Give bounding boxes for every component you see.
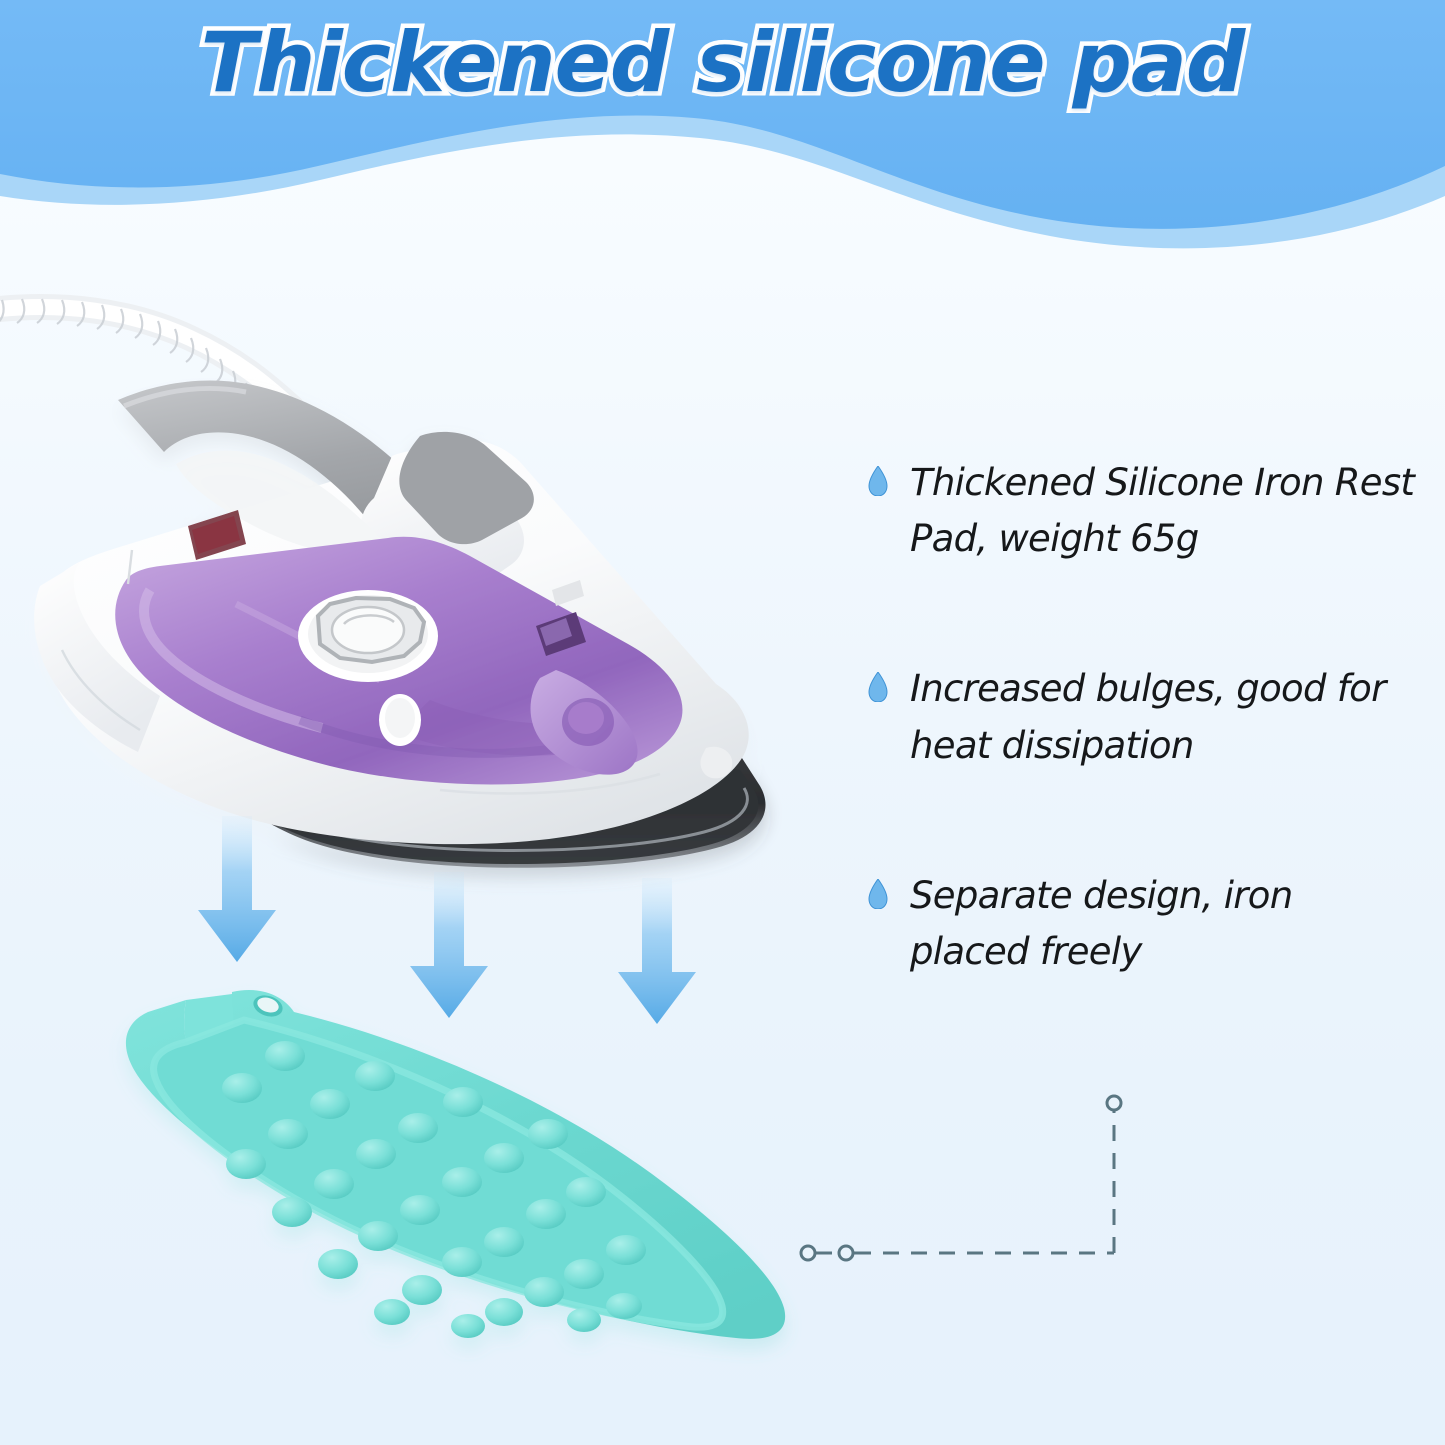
- feature-text-2: Increased bulges, good for heat dissipat…: [910, 661, 1420, 773]
- product-illustration: [0, 250, 860, 1445]
- iron-droplet-bullet-icon: [868, 879, 888, 909]
- feature-text-3: Separate design, iron placed freely: [910, 868, 1420, 980]
- feature-list: Thickened Silicone Iron Rest Pad, weight…: [860, 455, 1430, 980]
- feature-text-1: Thickened Silicone Iron Rest Pad, weight…: [910, 455, 1420, 567]
- steam-iron: [34, 381, 766, 868]
- header-banner: Thickened silicone pad: [0, 0, 1445, 250]
- product-scene-graphic: [0, 250, 860, 1445]
- downward-arrow-1: [198, 816, 276, 962]
- downward-arrow-2: [410, 872, 488, 1018]
- iron-droplet-bullet-icon: [868, 466, 888, 496]
- iron-droplet-bullet-icon: [868, 672, 888, 702]
- page-title: Thickened silicone pad: [0, 14, 1445, 111]
- feature-item-2: Increased bulges, good for heat dissipat…: [860, 661, 1430, 773]
- silicone-iron-rest-pad: [121, 988, 790, 1339]
- infographic-page: Thickened silicone pad: [0, 0, 1445, 1445]
- feature-item-1: Thickened Silicone Iron Rest Pad, weight…: [860, 455, 1430, 567]
- iron-temperature-dial: [298, 590, 438, 682]
- downward-arrow-3: [618, 878, 696, 1024]
- dimension-callout-line: [801, 1246, 860, 1260]
- feature-item-3: Separate design, iron placed freely: [860, 868, 1430, 980]
